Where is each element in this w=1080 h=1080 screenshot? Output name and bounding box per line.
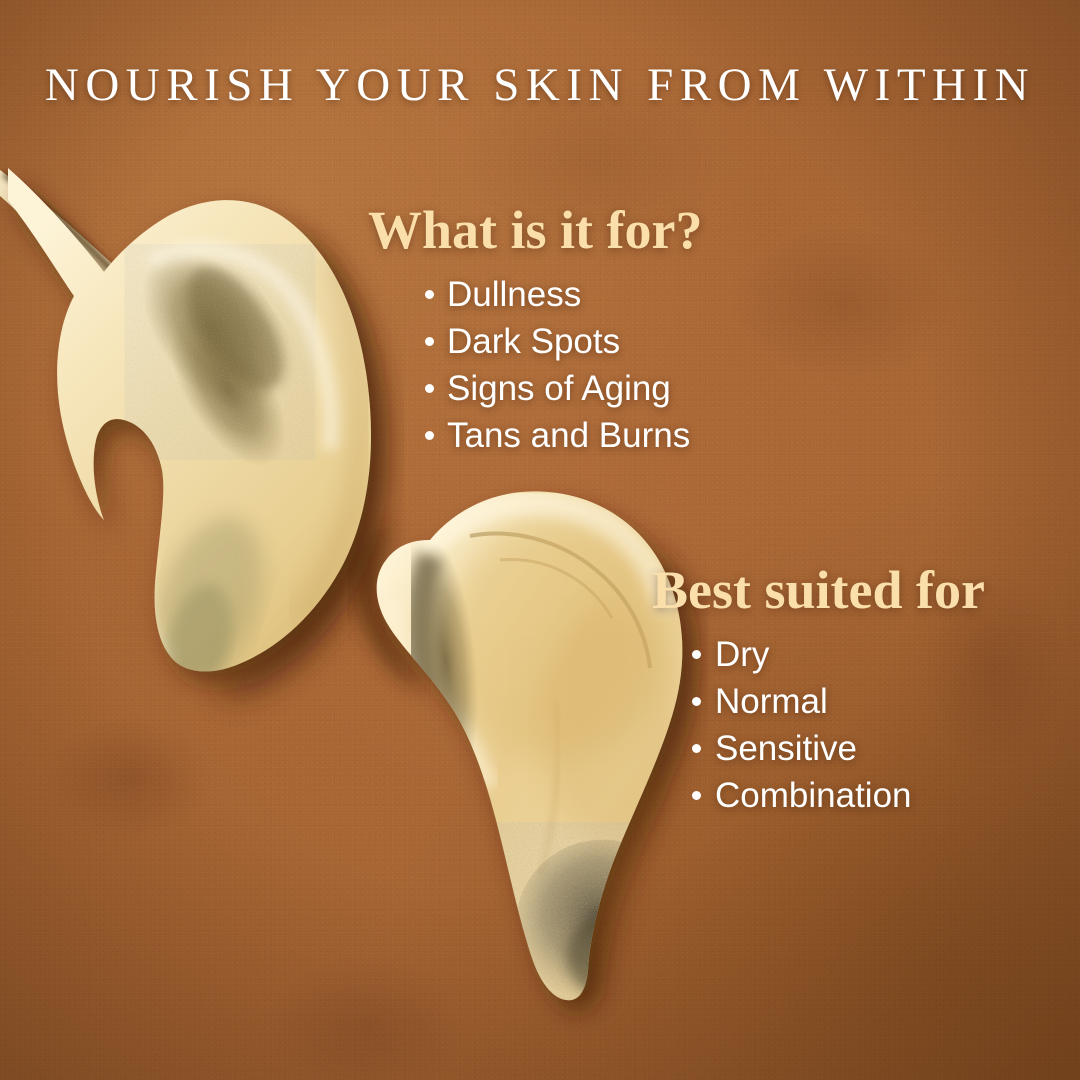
list-item-label: Signs of Aging bbox=[447, 369, 671, 408]
list-item-label: Normal bbox=[715, 682, 828, 721]
bullet-dot-icon bbox=[692, 650, 701, 659]
bullet-dot-icon bbox=[692, 697, 701, 706]
list-item: Tans and Burns bbox=[447, 412, 702, 459]
benefit-list: Dullness Dark Spots Signs of Aging Tans … bbox=[368, 271, 702, 459]
skin-type-list: Dry Normal Sensitive Combination bbox=[652, 631, 985, 819]
list-item-label: Tans and Burns bbox=[447, 416, 690, 455]
list-item: Dark Spots bbox=[447, 318, 702, 365]
list-item: Combination bbox=[715, 772, 985, 819]
section-title-what-is-it-for: What is it for? bbox=[368, 202, 702, 259]
page-title: NOURISH YOUR SKIN FROM WITHIN bbox=[0, 62, 1080, 109]
list-item-label: Dark Spots bbox=[447, 322, 620, 361]
list-item: Dullness bbox=[447, 271, 702, 318]
list-item-label: Dullness bbox=[447, 275, 581, 314]
list-item-label: Combination bbox=[715, 776, 912, 815]
section-what-is-it-for: What is it for? Dullness Dark Spots Sign… bbox=[368, 202, 702, 459]
list-item-label: Dry bbox=[715, 635, 769, 674]
bullet-dot-icon bbox=[425, 431, 434, 440]
list-item: Dry bbox=[715, 631, 985, 678]
section-best-suited-for: Best suited for Dry Normal Sensitive Com… bbox=[652, 562, 985, 819]
list-item-label: Sensitive bbox=[715, 729, 857, 768]
bullet-dot-icon bbox=[425, 337, 434, 346]
list-item: Normal bbox=[715, 678, 985, 725]
poster-canvas: NOURISH YOUR SKIN FROM WITHIN What is it… bbox=[0, 0, 1080, 1080]
bullet-dot-icon bbox=[692, 791, 701, 800]
list-item: Signs of Aging bbox=[447, 365, 702, 412]
product-swatch-artwork bbox=[0, 0, 1080, 1080]
list-item: Sensitive bbox=[715, 725, 985, 772]
section-title-best-suited-for: Best suited for bbox=[652, 562, 985, 619]
bullet-dot-icon bbox=[425, 384, 434, 393]
bullet-dot-icon bbox=[425, 290, 434, 299]
bullet-dot-icon bbox=[692, 744, 701, 753]
